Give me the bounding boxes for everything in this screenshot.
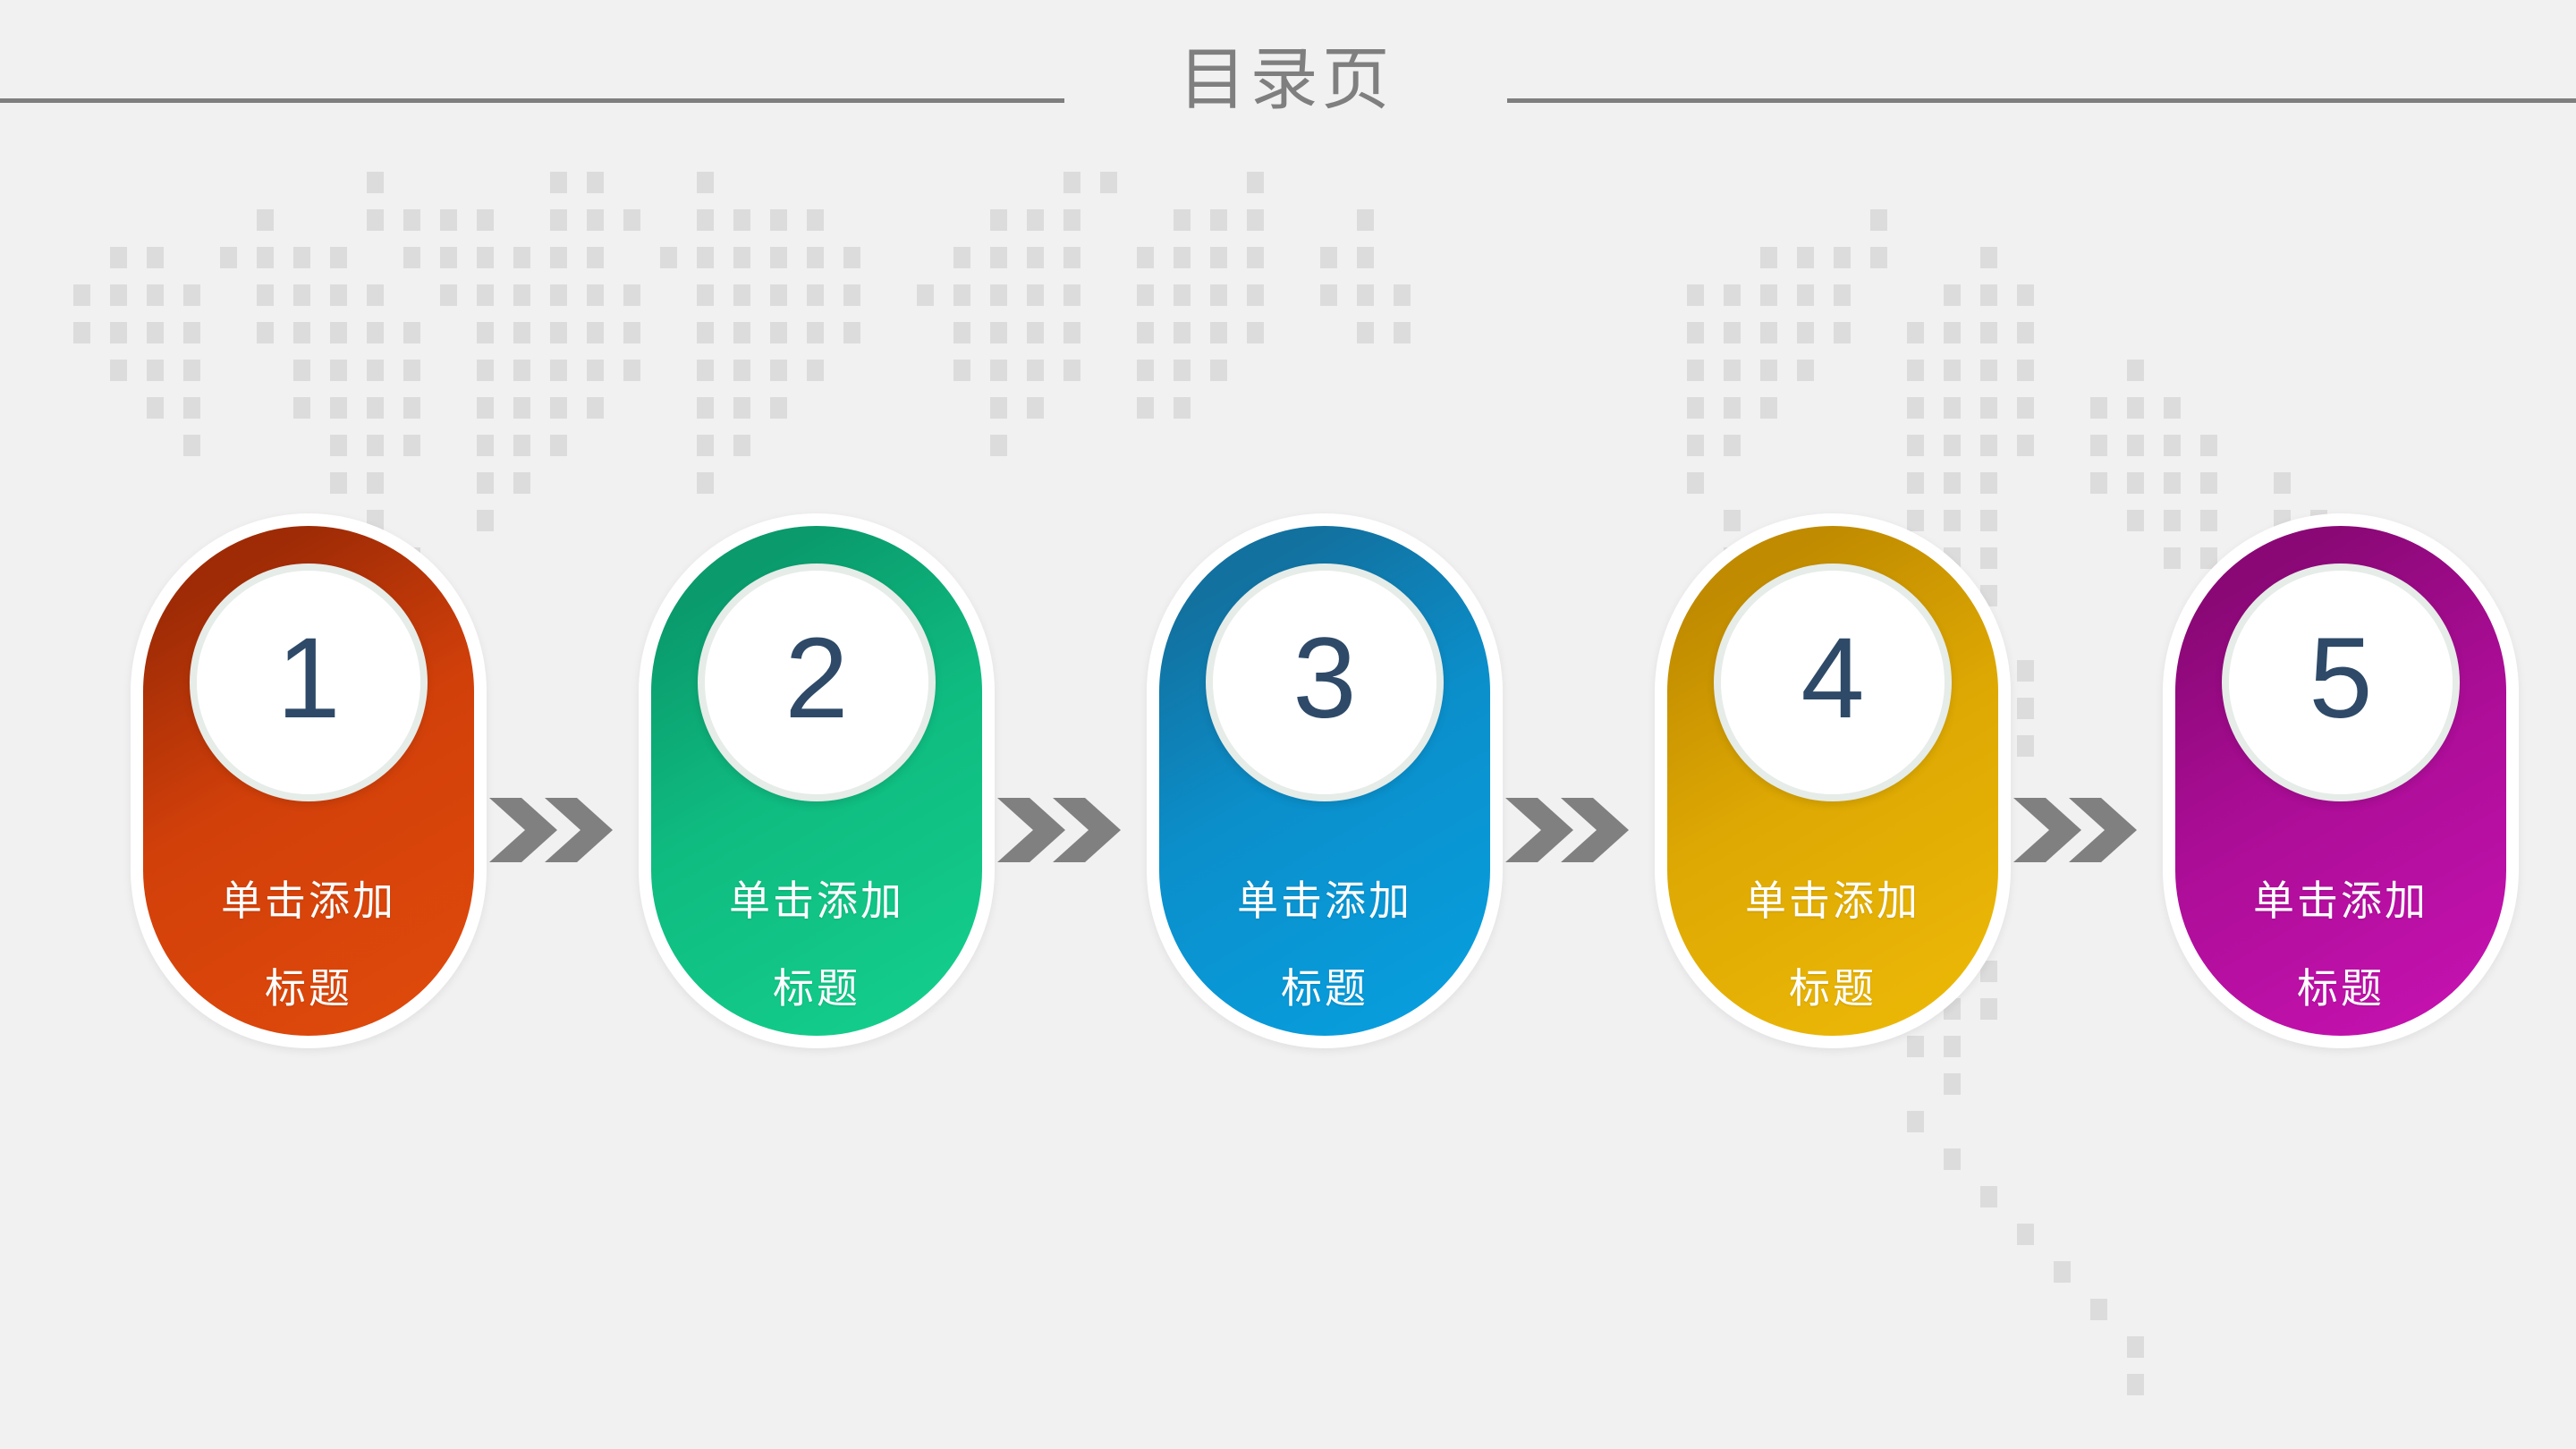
step-item-5[interactable]: 单击添加 标题 5 (2175, 526, 2506, 1036)
step-number: 4 (1801, 622, 1864, 736)
step-label-line1: 单击添加 (143, 859, 474, 945)
step-number: 1 (276, 622, 340, 736)
step-label-line2: 标题 (143, 946, 474, 1032)
step-label-line2: 标题 (651, 946, 982, 1032)
number-disc: 3 (1213, 571, 1436, 794)
step-item-1[interactable]: 单击添加 标题 1 (143, 526, 474, 1036)
chevron-double-right-icon (481, 792, 624, 869)
step-item-4[interactable]: 单击添加 标题 4 (1667, 526, 1998, 1036)
chevron-double-right-icon (1497, 792, 1640, 869)
step-item-3[interactable]: 单击添加 标题 3 (1159, 526, 1490, 1036)
number-disc: 4 (1721, 571, 1945, 794)
chevron-double-right-icon (2005, 792, 2148, 869)
number-disc: 2 (705, 571, 928, 794)
step-label-line2: 标题 (1667, 946, 1998, 1032)
step-number: 2 (784, 622, 848, 736)
number-disc: 1 (197, 571, 420, 794)
step-label-line1: 单击添加 (651, 859, 982, 945)
step-label-line1: 单击添加 (2175, 859, 2506, 945)
step-list: 单击添加 标题 1 单击添加 标题 2 单击添加 标题 3 (0, 0, 2576, 1449)
slide-canvas: 目录页 单击添加 标题 1 单击添加 标题 2 单击添加 (0, 0, 2576, 1449)
step-item-2[interactable]: 单击添加 标题 2 (651, 526, 982, 1036)
step-label-line2: 标题 (1159, 946, 1490, 1032)
step-number: 5 (2309, 622, 2372, 736)
step-label-line1: 单击添加 (1667, 859, 1998, 945)
chevron-double-right-icon (989, 792, 1132, 869)
step-label-line1: 单击添加 (1159, 859, 1490, 945)
step-number: 3 (1292, 622, 1356, 736)
step-label-line2: 标题 (2175, 946, 2506, 1032)
number-disc: 5 (2229, 571, 2453, 794)
